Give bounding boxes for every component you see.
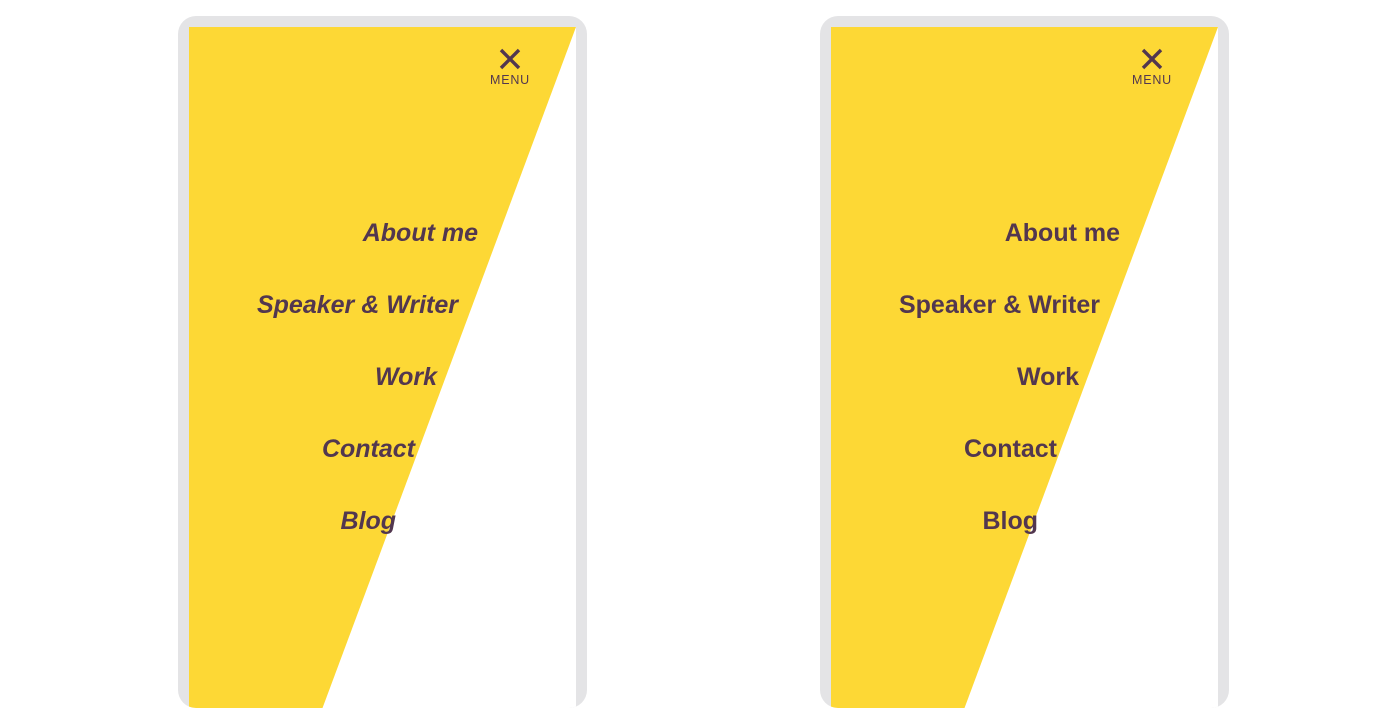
nav-item-blog[interactable]: Blog — [831, 485, 1218, 557]
nav-item-about-me[interactable]: About me — [189, 197, 576, 269]
menu-toggle-label: MENU — [482, 74, 538, 87]
nav-item-about-me[interactable]: About me — [831, 197, 1218, 269]
menu-toggle-label: MENU — [1124, 74, 1180, 87]
menu-nav-list-left: About me Speaker & Writer Work Contact B… — [189, 197, 576, 557]
nav-item-work[interactable]: Work — [189, 341, 576, 413]
nav-item-blog[interactable]: Blog — [189, 485, 576, 557]
phone-mockup-right: MENU About me Speaker & Writer Work Cont… — [820, 16, 1229, 708]
menu-nav-list-right: About me Speaker & Writer Work Contact B… — [831, 197, 1218, 557]
nav-item-work[interactable]: Work — [831, 341, 1218, 413]
nav-item-contact[interactable]: Contact — [189, 413, 576, 485]
comparison-stage: MENU About me Speaker & Writer Work Cont… — [0, 0, 1400, 720]
close-x-icon[interactable] — [496, 45, 524, 73]
nav-item-speaker-writer[interactable]: Speaker & Writer — [189, 269, 576, 341]
menu-toggle-right[interactable]: MENU — [1124, 45, 1180, 87]
nav-item-contact[interactable]: Contact — [831, 413, 1218, 485]
phone-screen-right: MENU About me Speaker & Writer Work Cont… — [831, 27, 1218, 708]
phone-screen-left: MENU About me Speaker & Writer Work Cont… — [189, 27, 576, 708]
menu-toggle-left[interactable]: MENU — [482, 45, 538, 87]
phone-mockup-left: MENU About me Speaker & Writer Work Cont… — [178, 16, 587, 708]
nav-item-speaker-writer[interactable]: Speaker & Writer — [831, 269, 1218, 341]
close-x-icon[interactable] — [1138, 45, 1166, 73]
